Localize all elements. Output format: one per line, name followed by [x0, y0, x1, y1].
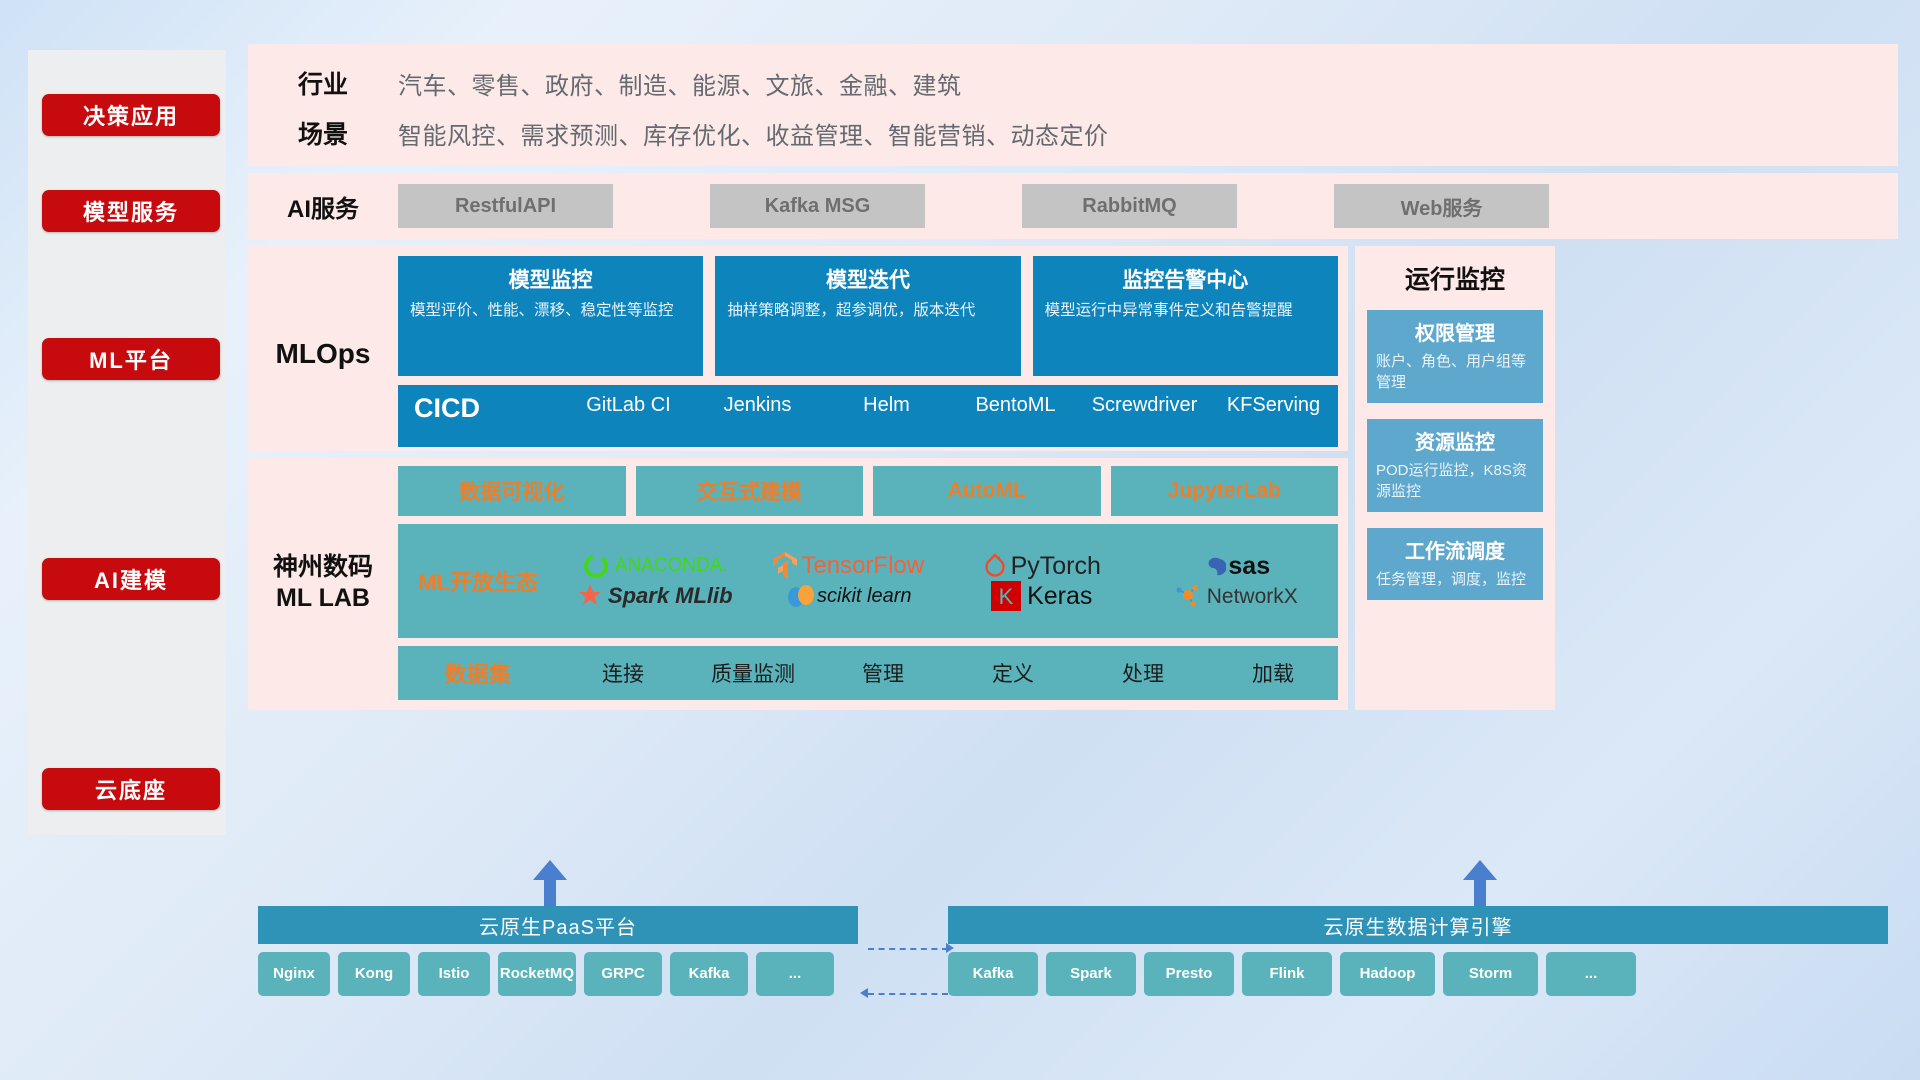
- scenario-row: 场景 智能风控、需求预测、库存优化、收益管理、智能营销、动态定价: [248, 112, 1898, 154]
- scenario-values: 智能风控、需求预测、库存优化、收益管理、智能营销、动态定价: [398, 116, 1109, 151]
- card-desc: 账户、角色、用户组等管理: [1376, 351, 1534, 393]
- cicd-item-kfserving[interactable]: KFServing: [1209, 393, 1338, 418]
- cloud-data-engine-header: 云原生数据计算引擎: [948, 906, 1888, 944]
- tool-jupyterlab[interactable]: JupyterLab: [1111, 466, 1339, 516]
- dataset-item-quality[interactable]: 质量监测: [688, 658, 818, 688]
- chip-spark[interactable]: Spark: [1046, 952, 1136, 996]
- card-title: 模型迭代: [727, 264, 1008, 294]
- chip-hadoop[interactable]: Hadoop: [1340, 952, 1435, 996]
- platform-section: MLOps 模型监控 模型评价、性能、漂移、稳定性等监控 模型迭代 抽样策略调整…: [248, 246, 1898, 710]
- platform-left: MLOps 模型监控 模型评价、性能、漂移、稳定性等监控 模型迭代 抽样策略调整…: [248, 246, 1348, 710]
- layer-button-ai-modeling[interactable]: AI建模: [42, 558, 220, 600]
- scenario-label: 场景: [248, 115, 398, 151]
- dataset-row: 数据集 连接 质量监测 管理 定义 处理 加载: [398, 646, 1338, 700]
- keras-text: Keras: [1027, 582, 1092, 611]
- layer-label: ML平台: [89, 343, 173, 375]
- ai-service-item-kafka-msg[interactable]: Kafka MSG: [710, 184, 925, 228]
- chip-storm[interactable]: Storm: [1443, 952, 1538, 996]
- industry-values: 汽车、零售、政府、制造、能源、文旅、金融、建筑: [398, 66, 962, 101]
- link-arrow-left-icon: [868, 993, 948, 995]
- mlops-content: 模型监控 模型评价、性能、漂移、稳定性等监控 模型迭代 抽样策略调整，超参调优，…: [398, 256, 1338, 451]
- keras-logo: K Keras: [991, 581, 1092, 611]
- mlops-band: MLOps 模型监控 模型评价、性能、漂移、稳定性等监控 模型迭代 抽样策略调整…: [248, 246, 1348, 451]
- chip-more[interactable]: ...: [1546, 952, 1636, 996]
- tensorflow-logo: TensorFlow: [772, 551, 924, 581]
- dataset-item-load[interactable]: 加载: [1208, 658, 1338, 688]
- layer-rail: 决策应用 模型服务 ML平台 AI建模 云底座: [28, 50, 226, 835]
- cloud-base-section: 云原生PaaS平台 Nginx Kong Istio RocketMQ GRPC…: [248, 860, 1898, 1040]
- mlops-label: MLOps: [248, 256, 398, 451]
- card-desc: 模型评价、性能、漂移、稳定性等监控: [410, 300, 691, 321]
- chip-istio[interactable]: Istio: [418, 952, 490, 996]
- link-arrow-left-tip-icon: [860, 988, 868, 998]
- ml-lab-label: 神州数码 ML LAB: [248, 466, 398, 700]
- cicd-item-gitlab-ci[interactable]: GitLab CI: [564, 393, 693, 418]
- dataset-items: 连接 质量监测 管理 定义 处理 加载: [558, 658, 1338, 688]
- cloud-data-engine-chips: Kafka Spark Presto Flink Hadoop Storm ..…: [948, 952, 1888, 996]
- sas-logo: sas: [1200, 552, 1270, 581]
- cloud-paas-chips: Nginx Kong Istio RocketMQ GRPC Kafka ...: [258, 952, 858, 996]
- runtime-monitor-panel: 运行监控 权限管理 账户、角色、用户组等管理 资源监控 POD运行监控，K8S资…: [1355, 246, 1555, 710]
- mlops-cards: 模型监控 模型评价、性能、漂移、稳定性等监控 模型迭代 抽样策略调整，超参调优，…: [398, 256, 1338, 376]
- networkx-text: NetworkX: [1207, 586, 1298, 607]
- chip-flink[interactable]: Flink: [1242, 952, 1332, 996]
- chip-presto[interactable]: Presto: [1144, 952, 1234, 996]
- cicd-row: CICD GitLab CI Jenkins Helm BentoML Scre…: [398, 385, 1338, 447]
- dataset-label: 数据集: [398, 657, 558, 689]
- card-title: 资源监控: [1376, 426, 1534, 455]
- anaconda-logo: ANACONDA.: [582, 552, 728, 580]
- spark-text: Spark MLlib: [608, 583, 733, 609]
- mlops-card-model-monitoring[interactable]: 模型监控 模型评价、性能、漂移、稳定性等监控: [398, 256, 703, 376]
- monitor-card-workflow[interactable]: 工作流调度 任务管理，调度，监控: [1367, 528, 1543, 600]
- cicd-title: CICD: [414, 393, 564, 424]
- card-title: 权限管理: [1376, 317, 1534, 346]
- dataset-item-process[interactable]: 处理: [1078, 658, 1208, 688]
- layer-label: 云底座: [95, 773, 167, 805]
- anaconda-text: ANACONDA.: [615, 555, 728, 577]
- ai-service-boxes: RestfulAPI Kafka MSG RabbitMQ Web服务: [398, 184, 1898, 228]
- up-arrow-paas-icon: [533, 860, 567, 906]
- card-title: 模型监控: [410, 264, 691, 294]
- ml-ecosystem-logos: ANACONDA. TensorFlow PyT: [558, 551, 1338, 611]
- link-arrow-right-icon: [868, 948, 948, 950]
- cicd-item-jenkins[interactable]: Jenkins: [693, 393, 822, 418]
- scikit-text: scikit learn: [817, 585, 911, 608]
- svg-text:K: K: [999, 584, 1014, 609]
- layer-label: AI建模: [94, 563, 168, 595]
- layer-button-model-service[interactable]: 模型服务: [42, 190, 220, 232]
- ai-service-label: AI服务: [248, 189, 398, 224]
- tool-automl[interactable]: AutoML: [873, 466, 1101, 516]
- up-arrow-data-engine-icon: [1463, 860, 1497, 906]
- monitor-card-permission[interactable]: 权限管理 账户、角色、用户组等管理: [1367, 310, 1543, 403]
- ml-lab-label-cn: 神州数码: [273, 552, 373, 583]
- main-column: 行业 汽车、零售、政府、制造、能源、文旅、金融、建筑 场景 智能风控、需求预测、…: [248, 44, 1898, 710]
- card-desc: POD运行监控，K8S资源监控: [1376, 460, 1534, 502]
- monitor-card-resource[interactable]: 资源监控 POD运行监控，K8S资源监控: [1367, 419, 1543, 512]
- chip-kafka[interactable]: Kafka: [670, 952, 748, 996]
- ai-service-item-restfulapi[interactable]: RestfulAPI: [398, 184, 613, 228]
- pytorch-text: PyTorch: [1011, 552, 1101, 581]
- dataset-item-manage[interactable]: 管理: [818, 658, 948, 688]
- architecture-diagram: 决策应用 模型服务 ML平台 AI建模 云底座 行业 汽车、零售、政府、制造、能…: [0, 0, 1920, 1080]
- ai-service-item-rabbitmq[interactable]: RabbitMQ: [1022, 184, 1237, 228]
- cloud-paas-header: 云原生PaaS平台: [258, 906, 858, 944]
- chip-rocketmq[interactable]: RocketMQ: [498, 952, 576, 996]
- cicd-item-bentoml[interactable]: BentoML: [951, 393, 1080, 418]
- pytorch-logo: PyTorch: [983, 552, 1101, 581]
- card-title: 监控告警中心: [1045, 264, 1326, 294]
- networkx-logo: NetworkX: [1173, 582, 1298, 610]
- ml-ecosystem-row: ML开放生态 ANACONDA. TensorFl: [398, 524, 1338, 638]
- ml-ecosystem-label: ML开放生态: [398, 565, 558, 597]
- layer-button-cloud-base[interactable]: 云底座: [42, 768, 220, 810]
- ai-service-band: AI服务 RestfulAPI Kafka MSG RabbitMQ Web服务: [248, 173, 1898, 239]
- mlops-card-model-iteration[interactable]: 模型迭代 抽样策略调整，超参调优，版本迭代: [715, 256, 1020, 376]
- chip-kafka[interactable]: Kafka: [948, 952, 1038, 996]
- ai-service-item-web-service[interactable]: Web服务: [1334, 184, 1549, 228]
- tool-interactive-modeling[interactable]: 交互式建模: [636, 466, 864, 516]
- tool-data-visualization[interactable]: 数据可视化: [398, 466, 626, 516]
- tensorflow-text: TensorFlow: [801, 552, 924, 580]
- ml-lab-tools: 数据可视化 交互式建模 AutoML JupyterLab: [398, 466, 1338, 516]
- cicd-item-screwdriver[interactable]: Screwdriver: [1080, 393, 1209, 418]
- industry-label: 行业: [248, 65, 398, 101]
- industry-row: 行业 汽车、零售、政府、制造、能源、文旅、金融、建筑: [248, 62, 1898, 104]
- ml-lab-content: 数据可视化 交互式建模 AutoML JupyterLab ML开放生态: [398, 466, 1338, 700]
- layer-button-ml-platform[interactable]: ML平台: [42, 338, 220, 380]
- spark-mllib-logo: Spark MLlib: [577, 583, 733, 609]
- chip-grpc[interactable]: GRPC: [584, 952, 662, 996]
- cicd-items: GitLab CI Jenkins Helm BentoML Screwdriv…: [564, 393, 1338, 418]
- decision-app-band: 行业 汽车、零售、政府、制造、能源、文旅、金融、建筑 场景 智能风控、需求预测、…: [248, 44, 1898, 166]
- card-title: 工作流调度: [1376, 535, 1534, 564]
- dataset-item-define[interactable]: 定义: [948, 658, 1078, 688]
- cicd-item-helm[interactable]: Helm: [822, 393, 951, 418]
- scikit-learn-logo: scikit learn: [785, 581, 911, 611]
- link-arrow-right-tip-icon: [946, 943, 954, 953]
- card-desc: 抽样策略调整，超参调优，版本迭代: [727, 300, 1008, 321]
- card-desc: 任务管理，调度，监控: [1376, 569, 1534, 590]
- chip-kong[interactable]: Kong: [338, 952, 410, 996]
- layer-button-decision-app[interactable]: 决策应用: [42, 94, 220, 136]
- chip-more[interactable]: ...: [756, 952, 834, 996]
- layer-label: 决策应用: [83, 99, 179, 131]
- runtime-monitor-title: 运行监控: [1367, 260, 1543, 296]
- card-desc: 模型运行中异常事件定义和告警提醒: [1045, 300, 1326, 321]
- chip-nginx[interactable]: Nginx: [258, 952, 330, 996]
- ml-lab-band: 神州数码 ML LAB 数据可视化 交互式建模 AutoML JupyterLa…: [248, 458, 1348, 710]
- sas-text: sas: [1228, 552, 1270, 581]
- cloud-paas-column: 云原生PaaS平台 Nginx Kong Istio RocketMQ GRPC…: [258, 906, 858, 996]
- dataset-item-connect[interactable]: 连接: [558, 658, 688, 688]
- layer-label: 模型服务: [83, 195, 179, 227]
- mlops-card-alert-center[interactable]: 监控告警中心 模型运行中异常事件定义和告警提醒: [1033, 256, 1338, 376]
- cloud-data-engine-column: 云原生数据计算引擎 Kafka Spark Presto Flink Hadoo…: [948, 906, 1888, 996]
- ml-lab-label-en: ML LAB: [276, 583, 370, 614]
